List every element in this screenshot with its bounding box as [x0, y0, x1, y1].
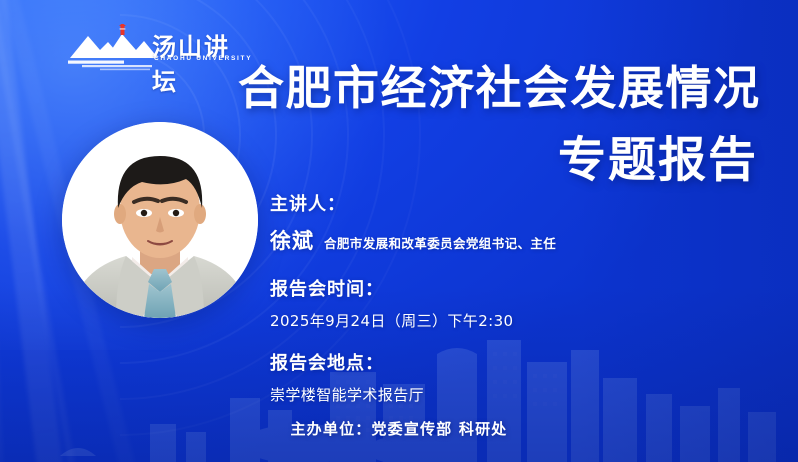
place-value: 崇学楼智能学术报告厅 [270, 384, 750, 405]
event-info-block: 主讲人： 徐斌 合肥市发展和改革委员会党组书记、主任 报告会时间： 2025年9… [270, 190, 750, 405]
avatar [62, 122, 258, 318]
light-ray [0, 0, 32, 462]
page-title-line-1: 合肥市经济社会发展情况 [238, 62, 761, 114]
time-value: 2025年9月24日（周三）下午2:30 [270, 310, 750, 331]
speaker-label: 主讲人： [270, 190, 750, 216]
place-block: 报告会地点： 崇学楼智能学术报告厅 [270, 349, 750, 405]
poster-canvas: 汤山讲坛 CHAOHU UNIVERSITY [0, 0, 798, 462]
speaker-role: 合肥市发展和改革委员会党组书记、主任 [324, 233, 556, 252]
time-block: 报告会时间： 2025年9月24日（周三）下午2:30 [270, 275, 750, 331]
brand-logo: 汤山讲坛 CHAOHU UNIVERSITY [66, 24, 238, 76]
page-title-line-2: 专题报告 [558, 133, 758, 187]
mountain-logo-icon [66, 24, 162, 72]
speaker-name: 徐斌 [270, 225, 314, 255]
time-label: 报告会时间： [270, 275, 750, 301]
speaker-row: 徐斌 合肥市发展和改革委员会党组书记、主任 [270, 225, 750, 255]
organizer-footer: 主办单位：党委宣传部 科研处 [0, 418, 798, 439]
place-label: 报告会地点： [270, 349, 750, 375]
logo-chinese-name: 汤山讲坛 [152, 27, 238, 97]
